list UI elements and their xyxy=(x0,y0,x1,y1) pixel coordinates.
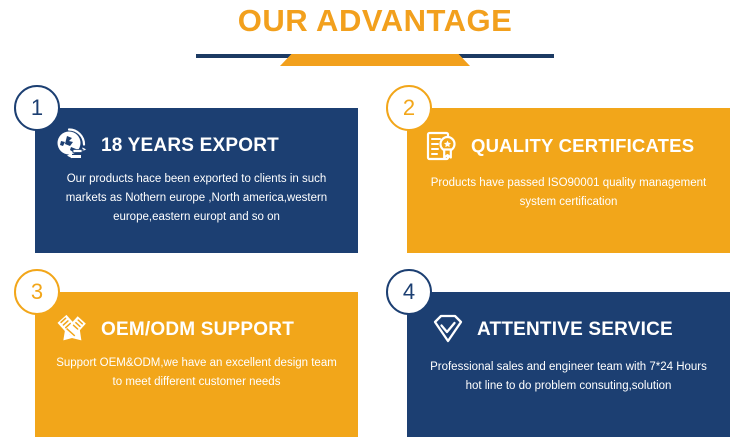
card-1-body: Our products hace been exported to clien… xyxy=(51,170,342,227)
card-number-badge-1: 1 xyxy=(14,85,60,131)
card-1-title: 18 YEARS EXPORT xyxy=(101,135,279,157)
advantage-card-4: ATTENTIVE SERVICE Professional sales and… xyxy=(407,292,730,437)
card-3-body: Support OEM&ODM,we have an excellent des… xyxy=(51,354,342,392)
card-4-body: Professional sales and engineer team wit… xyxy=(423,358,714,396)
card-3-heading: OEM/ODM SUPPORT xyxy=(53,308,348,352)
card-2-heading: QUALITY CERTIFICATES xyxy=(423,124,720,168)
advantage-card-3: OEM/ODM SUPPORT Support OEM&ODM,we have … xyxy=(35,292,358,437)
header: OUR ADVANTAGE xyxy=(0,0,750,78)
card-1-heading: 18 YEARS EXPORT xyxy=(53,124,348,168)
card-2-body: Products have passed ISO90001 quality ma… xyxy=(423,174,714,212)
globe-exchange-icon xyxy=(53,127,91,165)
certificate-award-icon xyxy=(423,127,461,165)
card-number-badge-2: 2 xyxy=(386,85,432,131)
divider-accent-shape xyxy=(280,54,470,66)
card-number-badge-3: 3 xyxy=(14,269,60,315)
card-number-badge-4: 4 xyxy=(386,269,432,315)
advantage-infographic: OUR ADVANTAGE 1 xyxy=(0,0,750,445)
pencil-pen-icon xyxy=(53,311,91,349)
card-4-heading: ATTENTIVE SERVICE xyxy=(429,308,720,352)
title-divider xyxy=(196,48,554,70)
advantage-card-2: QUALITY CERTIFICATES Products have passe… xyxy=(407,108,730,253)
card-4-title: ATTENTIVE SERVICE xyxy=(477,319,673,341)
shield-check-icon xyxy=(429,311,467,349)
page-title: OUR ADVANTAGE xyxy=(0,2,750,40)
advantage-card-1: 18 YEARS EXPORT Our products hace been e… xyxy=(35,108,358,253)
card-2-title: QUALITY CERTIFICATES xyxy=(471,135,694,157)
card-3-title: OEM/ODM SUPPORT xyxy=(101,319,294,341)
